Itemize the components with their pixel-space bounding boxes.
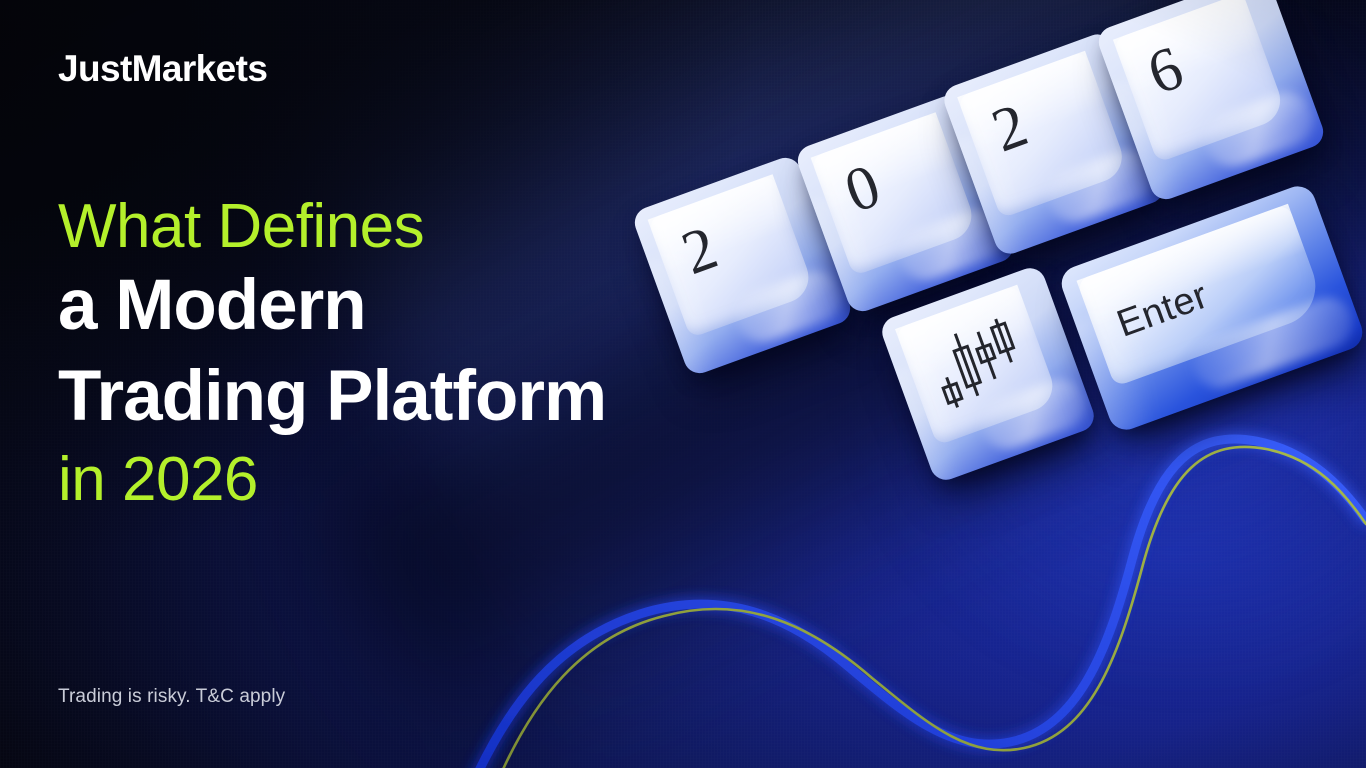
headline-line-4: in 2026 <box>58 443 606 516</box>
headline-block: What Defines a Modern Trading Platform i… <box>58 194 606 516</box>
promo-banner: 2 0 2 <box>0 0 1366 768</box>
risk-disclaimer: Trading is risky. T&C apply <box>58 686 285 708</box>
keycap-legend-enter: Enter <box>1112 276 1213 344</box>
headline-line-2: a Modern <box>58 261 606 352</box>
brand-logo[interactable]: JustMarkets <box>58 48 267 90</box>
content-column: JustMarkets What Defines a Modern Tradin… <box>58 0 878 768</box>
headline-line-3: Trading Platform <box>58 352 606 443</box>
headline-line-1: What Defines <box>58 194 606 261</box>
